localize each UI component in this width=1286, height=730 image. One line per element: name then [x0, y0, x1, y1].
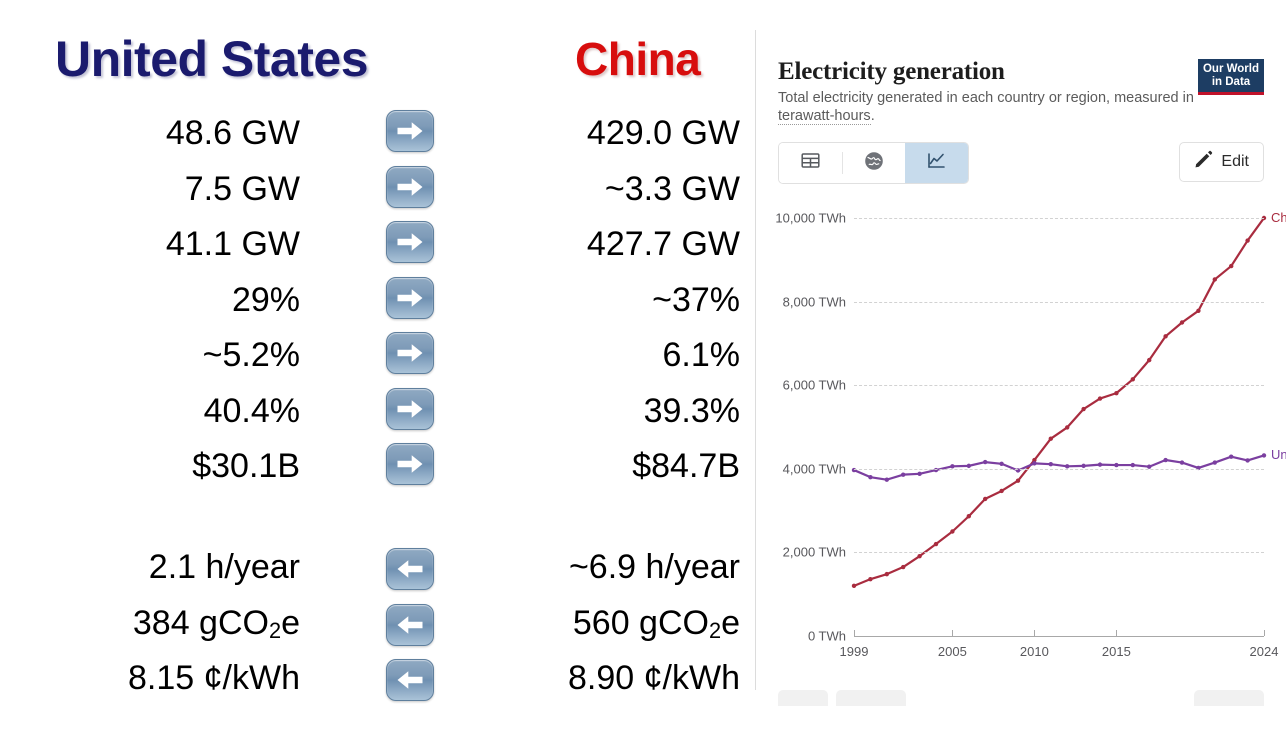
- arrow-right-icon-button[interactable]: [386, 388, 434, 430]
- globe-icon: [863, 150, 885, 177]
- value-cell: 41.1 GW: [85, 217, 300, 273]
- value-cell: ~3.3 GW: [525, 162, 740, 218]
- value-cell: 427.7 GW: [525, 217, 740, 273]
- series-point: [1163, 334, 1167, 338]
- tab-chart[interactable]: [905, 143, 968, 183]
- arrow-left-icon-button[interactable]: [386, 659, 434, 701]
- y-axis-tick-label: 4,000 TWh: [766, 461, 846, 476]
- value-cell: 560 gCO2e: [525, 596, 740, 652]
- value-cell: $84.7B: [525, 439, 740, 495]
- arrow-right-icon: [396, 176, 424, 198]
- series-point: [950, 529, 954, 533]
- series-point: [1065, 425, 1069, 429]
- x-axis-line: [854, 636, 1264, 637]
- value-cell: 40.4%: [85, 384, 300, 440]
- tab-map[interactable]: [842, 143, 905, 183]
- comparison-panel: United States China 48.6 GW7.5 GW41.1 GW…: [0, 0, 755, 730]
- value-cell: 2.1 h/year: [85, 540, 300, 596]
- tab-group: [778, 142, 969, 184]
- arrow-right-icon-button[interactable]: [386, 332, 434, 374]
- y-axis-tick-label: 10,000 TWh: [766, 211, 846, 226]
- value-cell: 8.15 ¢/kWh: [85, 651, 300, 707]
- arrow-right-icon-button[interactable]: [386, 277, 434, 319]
- series-point: [1163, 458, 1167, 462]
- arrow-column-group-one: [386, 110, 434, 499]
- chart-subtitle-period: .: [871, 108, 875, 124]
- y-axis-tick-label: 2,000 TWh: [766, 545, 846, 560]
- value-cell: 384 gCO2e: [85, 596, 300, 652]
- united-states-values-group-one: 48.6 GW7.5 GW41.1 GW29%~5.2%40.4%$30.1B: [85, 106, 300, 495]
- page-root: United States China 48.6 GW7.5 GW41.1 GW…: [0, 0, 1286, 730]
- arrow-right-icon-button[interactable]: [386, 166, 434, 208]
- series-point: [1180, 460, 1184, 464]
- x-axis-tick-label: 1999: [840, 644, 869, 659]
- series-point: [901, 472, 905, 476]
- series-point: [1245, 238, 1249, 242]
- chart-series-svg: [756, 198, 1286, 698]
- gridline: [854, 385, 1264, 386]
- series-point: [917, 472, 921, 476]
- value-cell: 6.1%: [525, 328, 740, 384]
- series-point: [967, 514, 971, 518]
- china-column-title: China: [575, 32, 700, 86]
- chart-subtitle-text: Total electricity generated in each coun…: [778, 90, 1194, 106]
- arrow-left-icon-button[interactable]: [386, 548, 434, 590]
- value-cell: ~37%: [525, 273, 740, 329]
- series-point: [1114, 391, 1118, 395]
- series-point: [868, 577, 872, 581]
- series-point: [1081, 464, 1085, 468]
- gridline: [854, 302, 1264, 303]
- series-point: [999, 462, 1003, 466]
- series-point: [1032, 461, 1036, 465]
- x-axis-tick-label: 2010: [1020, 644, 1049, 659]
- value-cell: 48.6 GW: [85, 106, 300, 162]
- series-point: [1147, 358, 1151, 362]
- series-point: [1016, 479, 1020, 483]
- series-point: [1098, 462, 1102, 466]
- value-cell: 8.90 ¢/kWh: [525, 651, 740, 707]
- series-point: [1229, 454, 1233, 458]
- chart-view-tabs: [778, 142, 969, 184]
- x-axis-tick-label: 2024: [1250, 644, 1279, 659]
- series-point: [1049, 437, 1053, 441]
- series-point: [983, 460, 987, 464]
- x-axis-tick: [1264, 630, 1265, 636]
- chart-title: Electricity generation: [778, 58, 1005, 86]
- arrow-right-icon: [396, 453, 424, 475]
- x-axis-tick: [952, 630, 953, 636]
- y-axis-tick-label: 8,000 TWh: [766, 294, 846, 309]
- series-end-label: China: [1271, 210, 1286, 225]
- value-cell: 429.0 GW: [525, 106, 740, 162]
- pencil-icon: [1194, 150, 1213, 174]
- series-point: [999, 489, 1003, 493]
- y-axis-tick-label: 0 TWh: [766, 629, 846, 644]
- series-point: [1196, 309, 1200, 313]
- series-point: [1081, 407, 1085, 411]
- arrow-right-icon: [396, 120, 424, 142]
- series-point: [934, 542, 938, 546]
- series-end-label: United States: [1271, 447, 1286, 462]
- x-axis-tick: [1116, 630, 1117, 636]
- value-cell: ~6.9 h/year: [525, 540, 740, 596]
- series-point: [983, 497, 987, 501]
- x-axis-tick-label: 2005: [938, 644, 967, 659]
- series-point: [1131, 377, 1135, 381]
- series-point: [901, 565, 905, 569]
- arrow-right-icon: [396, 231, 424, 253]
- tab-table[interactable]: [779, 143, 842, 183]
- gridline: [854, 469, 1264, 470]
- series-point: [1245, 458, 1249, 462]
- series-point: [885, 477, 889, 481]
- arrow-right-icon: [396, 287, 424, 309]
- owid-chart-panel: Electricity generation Total electricity…: [756, 30, 1286, 730]
- china-values-group-two: ~6.9 h/year560 gCO2e8.90 ¢/kWh: [525, 540, 740, 707]
- gridline: [854, 218, 1264, 219]
- series-point: [852, 584, 856, 588]
- series-point: [1114, 463, 1118, 467]
- chart-subtitle-link[interactable]: terawatt-hours: [778, 108, 871, 125]
- value-cell: 39.3%: [525, 384, 740, 440]
- united-states-values-group-two: 2.1 h/year384 gCO2e8.15 ¢/kWh: [85, 540, 300, 707]
- gridline: [854, 552, 1264, 553]
- edit-button[interactable]: Edit: [1179, 142, 1264, 182]
- arrow-left-icon-button[interactable]: [386, 604, 434, 646]
- series-line: [854, 218, 1264, 586]
- value-cell: 7.5 GW: [85, 162, 300, 218]
- y-axis-tick-label: 6,000 TWh: [766, 378, 846, 393]
- logo-line-2: in Data: [1198, 76, 1264, 89]
- table-icon: [800, 150, 821, 176]
- series-point: [917, 554, 921, 558]
- chart-plot-area[interactable]: 0 TWh2,000 TWh4,000 TWh6,000 TWh8,000 TW…: [756, 198, 1286, 698]
- series-point: [868, 475, 872, 479]
- line-chart-icon: [926, 150, 947, 176]
- value-cell: ~5.2%: [85, 328, 300, 384]
- series-point: [1262, 453, 1266, 457]
- x-axis-tick-label: 2015: [1102, 644, 1131, 659]
- arrow-left-icon: [396, 669, 424, 691]
- value-cell: $30.1B: [85, 439, 300, 495]
- series-point: [885, 572, 889, 576]
- series-point: [967, 464, 971, 468]
- china-values-group-one: 429.0 GW~3.3 GW427.7 GW~37%6.1%39.3%$84.…: [525, 106, 740, 495]
- arrow-right-icon-button[interactable]: [386, 110, 434, 152]
- arrow-column-group-two: [386, 548, 434, 715]
- edit-button-label: Edit: [1221, 153, 1249, 171]
- series-point: [1131, 463, 1135, 467]
- x-axis-tick: [1034, 630, 1035, 636]
- footer-chip-1[interactable]: [778, 690, 828, 706]
- chart-subtitle: Total electricity generated in each coun…: [778, 89, 1198, 125]
- arrow-left-icon: [396, 614, 424, 636]
- series-point: [1049, 462, 1053, 466]
- footer-chip-3[interactable]: [1194, 690, 1264, 706]
- series-line: [854, 455, 1264, 479]
- our-world-in-data-logo[interactable]: Our World in Data: [1198, 59, 1264, 95]
- arrow-right-icon: [396, 398, 424, 420]
- arrow-left-icon: [396, 558, 424, 580]
- x-axis-tick: [854, 630, 855, 636]
- series-point: [1229, 264, 1233, 268]
- arrow-right-icon: [396, 342, 424, 364]
- series-point: [1213, 460, 1217, 464]
- series-point: [1213, 277, 1217, 281]
- footer-chip-2[interactable]: [836, 690, 906, 706]
- logo-line-1: Our World: [1198, 63, 1264, 76]
- series-point: [1098, 396, 1102, 400]
- value-cell: 29%: [85, 273, 300, 329]
- united-states-column-title: United States: [55, 30, 368, 88]
- series-point: [1180, 320, 1184, 324]
- arrow-right-icon-button[interactable]: [386, 443, 434, 485]
- arrow-right-icon-button[interactable]: [386, 221, 434, 263]
